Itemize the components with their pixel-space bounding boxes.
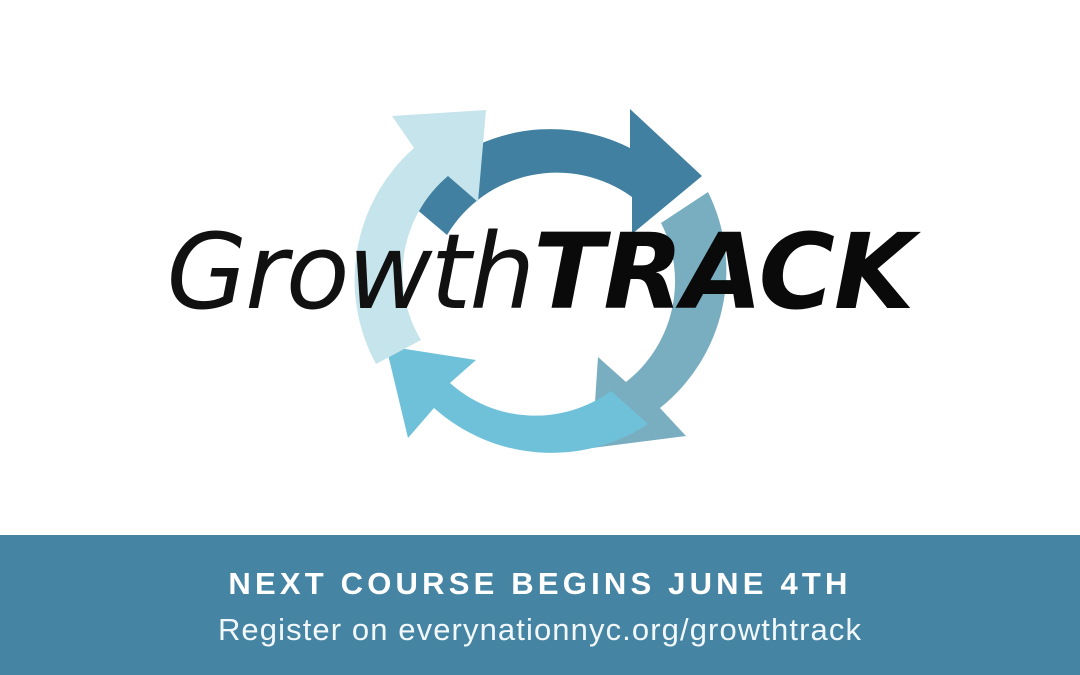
banner-headline: NEXT COURSE BEGINS JUNE 4TH xyxy=(228,567,851,601)
arrow-left xyxy=(355,110,486,364)
cycle-arrows-svg xyxy=(330,52,750,492)
info-banner: NEXT COURSE BEGINS JUNE 4TH Register on … xyxy=(0,535,1080,675)
growthtrack-poster: GrowthTRACK NEXT COURSE BEGINS JUNE 4TH … xyxy=(0,0,1080,675)
banner-subline: Register on everynationnyc.org/growthtra… xyxy=(218,613,862,647)
arrow-bottom xyxy=(386,346,648,453)
logo-area: GrowthTRACK xyxy=(0,0,1080,535)
circular-arrows-cycle-icon xyxy=(330,52,750,492)
